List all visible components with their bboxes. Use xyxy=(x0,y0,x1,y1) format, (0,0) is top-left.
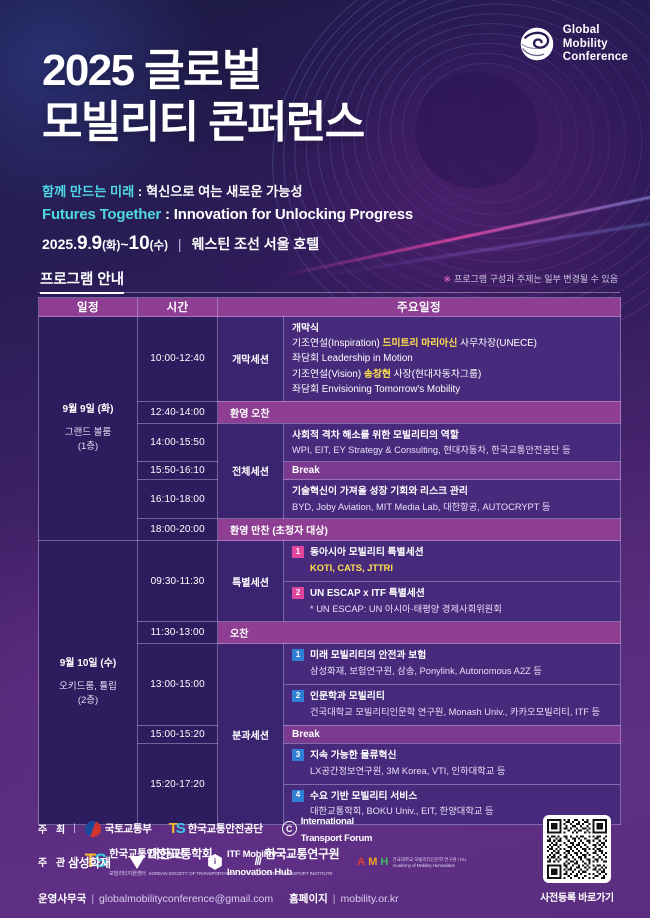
row-time: 12:40-14:00 xyxy=(138,401,218,423)
host-itf: C International Transport Forum xyxy=(282,812,373,846)
date-venue-divider: | xyxy=(178,236,182,252)
subtitle-ko-rest: : 혁신으로 여는 새로운 가능성 xyxy=(134,184,302,199)
homepage-label: 홈페이지 xyxy=(289,893,328,905)
host-ministry-name: 국토교통부 xyxy=(105,821,152,836)
partner-kst-name: 대한교통학회 xyxy=(149,847,213,861)
row-time: 18:00-20:00 xyxy=(138,519,218,541)
logo-line-2: Mobility xyxy=(563,38,628,52)
date-tilde: ~ xyxy=(120,236,128,252)
day1-venue: 그랜드 볼룸 xyxy=(39,426,137,441)
session-title: 인문학과 모빌리티 xyxy=(310,691,385,702)
session-number-badge: 1 xyxy=(292,649,304,661)
title-line-1: 2025 글로벌 xyxy=(42,48,364,95)
partner-kst-sub: KOREAN SOCIETY OF TRANSPORTATION xyxy=(149,871,237,876)
session-orgs: 건국대학교 모빌리티인문학 연구원, Monash Univ., 카카오모빌리티… xyxy=(310,707,600,717)
partner-amh-sub: 건국대학교 모빌리티인문학 연구원 / KU Academy of Mobili… xyxy=(392,857,472,868)
session-lines: 미래 모빌리티의 안전과 보험 삼성화재, 보험연구원, 삼송, Ponylin… xyxy=(310,648,612,680)
speaker-name: 송창현 xyxy=(364,369,391,380)
host-separator: | xyxy=(73,823,76,834)
session-title: 미래 모빌리티의 안전과 보험 xyxy=(310,650,426,661)
schedule-table: 일정 시간 주요일정 9월 9일 (화) 그랜드 볼룸 (1층) 10:00-1… xyxy=(38,297,621,825)
agenda-line: 기조연설(Vision) 송창현 사장(현대자동차그룹) xyxy=(292,367,612,382)
program-note: ※프로그램 구성과 주제는 일부 변경될 수 있음 xyxy=(443,272,618,285)
day2-venue: 오키드룸, 튤립 xyxy=(39,680,137,695)
agenda-text: 기조연설(Inspiration) xyxy=(292,338,383,349)
logo-line-1: Global xyxy=(563,24,628,38)
partner-koti-sub: KOREA TRANSPORT INSTITUTE xyxy=(265,871,333,876)
agenda-text: 좌담회 Envisioning Tomorrow's Mobility xyxy=(292,384,460,395)
date-day-2-dow: (수) xyxy=(150,237,168,253)
day1-date: 9월 9일 (화) xyxy=(39,402,137,418)
venue-name: 웨스틴 조선 서울 호텔 xyxy=(192,234,320,254)
contact-label: 운영사무국 xyxy=(38,893,86,905)
sub-session: 1 미래 모빌리티의 안전과 보험 삼성화재, 보험연구원, 삼송, Ponyl… xyxy=(284,644,620,685)
host-itf-name-1: International xyxy=(301,816,354,827)
col-header-day: 일정 xyxy=(39,298,138,317)
row-break: Break xyxy=(284,725,621,743)
host-ts: TS 한국교통안전공단 xyxy=(169,820,263,837)
partner-kst: 대한교통학회 KOREAN SOCIETY OF TRANSPORTATION xyxy=(129,845,237,880)
sub-session: 2 인문학과 모빌리티 건국대학교 모빌리티인문학 연구원, Monash Un… xyxy=(284,685,620,725)
qr-caption: 사전등록 바로가기 xyxy=(534,889,620,904)
row-agenda: 개막식 기조연설(Inspiration) 드미트리 마리아신 사무차장(UNE… xyxy=(284,317,621,402)
qr-code-icon[interactable] xyxy=(543,815,611,883)
logo-line-3: Conference xyxy=(563,51,628,65)
session-title: UN ESCAP x ITF 특별세션 xyxy=(310,588,425,599)
row-break: Break xyxy=(284,462,621,480)
row-agenda: 1 동아시아 모빌리티 특별세션 KOTI, CATS, JTTRI 2 UN … xyxy=(284,541,621,622)
row-time: 15:00-15:20 xyxy=(138,725,218,743)
table-header-row: 일정 시간 주요일정 xyxy=(39,298,621,317)
row-session: 특별세션 xyxy=(218,541,284,622)
subtitle-en-highlight: Futures Together xyxy=(42,206,161,223)
partner-koti-text: 한국교통연구원 KOREA TRANSPORT INSTITUTE xyxy=(265,845,339,880)
contact-line: 운영사무국|globalmobilityconference@gmail.com… xyxy=(38,891,399,906)
day2-label-cell: 9월 10일 (수) 오키드룸, 튤립 (2층) xyxy=(39,541,138,825)
row-meal: 환영 만찬 (초청자 대상) xyxy=(218,519,621,541)
row-agenda: 사회적 격차 해소를 위한 모빌리티의 역할 WPI, EIT, EY Stra… xyxy=(284,423,621,462)
qr-registration-block[interactable]: 사전등록 바로가기 xyxy=(534,815,620,904)
row-session: 전체세션 xyxy=(218,423,284,518)
title-line-2: 모빌리티 콘퍼런스 xyxy=(42,100,364,147)
row-meal: 환영 오찬 xyxy=(218,401,621,423)
session-lines: 지속 가능한 물류혁신 LX공간정보연구원, 3M Korea, VTI, 인하… xyxy=(310,748,612,780)
itf-logo-icon: C xyxy=(282,821,297,836)
agenda-line: 기조연설(Inspiration) 드미트리 마리아신 사무차장(UNECE) xyxy=(292,336,612,351)
sub-session: 3 지속 가능한 물류혁신 LX공간정보연구원, 3M Korea, VTI, … xyxy=(284,744,620,785)
koti-swoosh-icon: /// xyxy=(255,856,261,868)
host-label: 주 최 xyxy=(38,821,68,836)
partner-koti-name: 한국교통연구원 xyxy=(265,847,339,861)
agenda-line: 개막식 xyxy=(292,321,612,336)
sub-session: 2 UN ESCAP x ITF 특별세션 * UN ESCAP: UN 아시아… xyxy=(284,582,620,622)
session-number-badge: 2 xyxy=(292,587,304,599)
session-title: 동아시아 모빌리티 특별세션 xyxy=(310,547,424,558)
session-number-badge: 1 xyxy=(292,546,304,558)
session-lines: 동아시아 모빌리티 특별세션 KOTI, CATS, JTTRI xyxy=(310,545,612,577)
conference-logo: Global Mobility Conference xyxy=(519,24,628,65)
qr-code-svg xyxy=(547,819,607,879)
partner-samsung-fire: 삼성화재 xyxy=(68,854,111,871)
light-beam-decoration-2 xyxy=(312,220,650,278)
day1-floor: (1층) xyxy=(39,440,137,455)
program-section-label: 프로그램 안내 xyxy=(40,268,124,294)
row-meal: 오찬 xyxy=(218,622,621,644)
row-time: 14:00-15:50 xyxy=(138,423,218,462)
table-row: 9월 10일 (수) 오키드룸, 튤립 (2층) 09:30-11:30 특별세… xyxy=(39,541,621,622)
col-header-agenda: 주요일정 xyxy=(218,298,621,317)
partner-kst-text: 대한교통학회 KOREAN SOCIETY OF TRANSPORTATION xyxy=(149,845,237,880)
speaker-title: 사무차장(UNECE) xyxy=(457,338,537,349)
host-row: 주 최 | 국토교통부 TS 한국교통안전공단 C International … xyxy=(38,812,372,846)
agenda-text: 개막식 xyxy=(292,323,319,334)
poster-title: 2025 글로벌 모빌리티 콘퍼런스 xyxy=(42,48,364,146)
conference-poster: Global Mobility Conference 2025 글로벌 모빌리티… xyxy=(0,0,650,918)
session-number-badge: 3 xyxy=(292,749,304,761)
homepage-url: mobility.or.kr xyxy=(341,893,399,905)
korea-government-emblem-icon xyxy=(85,821,101,837)
ts-logo-icon: TS xyxy=(169,820,184,837)
row-time: 09:30-11:30 xyxy=(138,541,218,622)
amh-logo-icon: AMH xyxy=(357,856,388,868)
session-orgs: LX공간정보연구원, 3M Korea, VTI, 인하대학교 등 xyxy=(310,766,505,776)
day2-floor: (2층) xyxy=(39,694,137,709)
globe-swirl-icon xyxy=(519,26,555,62)
date-venue-bar: 2025. 9 . 9 (화) ~ 10 (수) | 웨스틴 조선 서울 호텔 xyxy=(42,233,319,255)
poster-subtitle: 함께 만드는 미래 : 혁신으로 여는 새로운 가능성 Futures Toge… xyxy=(42,182,413,226)
kst-triangle-icon xyxy=(129,856,145,869)
session-title: 지속 가능한 물류혁신 xyxy=(310,750,397,761)
speaker-title: 사장(현대자동차그룹) xyxy=(391,369,481,380)
row-time: 15:50-16:10 xyxy=(138,462,218,480)
session-lines: UN ESCAP x ITF 특별세션 * UN ESCAP: UN 아시아·태… xyxy=(310,586,612,618)
host-ministry: 국토교통부 xyxy=(85,821,152,837)
row-time: 11:30-13:00 xyxy=(138,622,218,644)
agenda-title: 기술혁신이 가져올 성장 기회와 리스크 관리 xyxy=(292,484,612,499)
host-itf-name-2: Transport Forum xyxy=(301,833,373,844)
date-month: 9 xyxy=(77,233,88,255)
poster-footer: 주 최 | 국토교통부 TS 한국교통안전공단 C International … xyxy=(0,796,650,918)
note-bullet-icon: ※ xyxy=(443,274,451,284)
agenda-line: 좌담회 Envisioning Tomorrow's Mobility xyxy=(292,382,612,397)
date-year: 2025. xyxy=(42,236,77,252)
session-note: * UN ESCAP: UN 아시아·태평양 경제사회위원회 xyxy=(310,604,502,614)
day2-date: 9월 10일 (수) xyxy=(39,656,137,672)
agenda-orgs: BYD, Joby Aviation, MIT Media Lab, 대한항공,… xyxy=(292,500,612,514)
session-lines: 인문학과 모빌리티 건국대학교 모빌리티인문학 연구원, Monash Univ… xyxy=(310,689,612,721)
subtitle-korean: 함께 만드는 미래 : 혁신으로 여는 새로운 가능성 xyxy=(42,182,413,202)
row-session: 개막세션 xyxy=(218,317,284,402)
row-agenda: 1 미래 모빌리티의 안전과 보험 삼성화재, 보험연구원, 삼송, Ponyl… xyxy=(284,644,621,725)
day1-label-cell: 9월 9일 (화) 그랜드 볼룸 (1층) xyxy=(39,317,138,541)
subtitle-ko-highlight: 함께 만드는 미래 xyxy=(42,184,134,199)
row-time: 10:00-12:40 xyxy=(138,317,218,402)
subtitle-en-rest: : Innovation for Unlocking Progress xyxy=(161,206,413,223)
partner-koti: /// 한국교통연구원 KOREA TRANSPORT INSTITUTE xyxy=(255,845,340,880)
host-itf-text: International Transport Forum xyxy=(301,812,373,846)
agenda-text: 좌담회 Leadership in Motion xyxy=(292,353,413,364)
agenda-text: 기조연설(Vision) xyxy=(292,369,364,380)
col-header-time: 시간 xyxy=(138,298,218,317)
row-time: 13:00-15:00 xyxy=(138,644,218,725)
agenda-orgs: WPI, EIT, EY Strategy & Consulting, 현대자동… xyxy=(292,443,612,457)
contact-email: globalmobilityconference@gmail.com xyxy=(99,893,273,905)
organizer-label: 주 관 xyxy=(38,854,68,869)
partner-row: 삼성화재 대한교통학회 KOREAN SOCIETY OF TRANSPORTA… xyxy=(68,845,472,880)
date-day-1: 9 xyxy=(92,233,103,255)
table-row: 9월 9일 (화) 그랜드 볼룸 (1층) 10:00-12:40 개막세션 개… xyxy=(39,317,621,402)
logo-text: Global Mobility Conference xyxy=(563,24,628,65)
note-text: 프로그램 구성과 주제는 일부 변경될 수 있음 xyxy=(454,274,618,284)
partner-amh: AMH 건국대학교 모빌리티인문학 연구원 / KU Academy of Mo… xyxy=(357,856,472,868)
date-day-2: 10 xyxy=(129,233,150,255)
session-orgs: 삼성화재, 보험연구원, 삼송, Ponylink, Autonomous A2… xyxy=(310,666,542,676)
program-divider xyxy=(38,292,620,293)
sub-session: 1 동아시아 모빌리티 특별세션 KOTI, CATS, JTTRI xyxy=(284,541,620,582)
date-day-1-dow: (화) xyxy=(102,237,120,253)
agenda-line: 좌담회 Leadership in Motion xyxy=(292,351,612,366)
row-time: 16:10-18:00 xyxy=(138,480,218,519)
subtitle-english: Futures Together : Innovation for Unlock… xyxy=(42,204,413,227)
agenda-title: 사회적 격차 해소를 위한 모빌리티의 역할 xyxy=(292,428,612,443)
session-orgs: KOTI, CATS, JTTRI xyxy=(310,563,393,573)
speaker-name: 드미트리 마리아신 xyxy=(383,338,458,349)
row-agenda: 기술혁신이 가져올 성장 기회와 리스크 관리 BYD, Joby Aviati… xyxy=(284,480,621,519)
host-ts-name: 한국교통안전공단 xyxy=(188,821,263,836)
session-number-badge: 2 xyxy=(292,690,304,702)
